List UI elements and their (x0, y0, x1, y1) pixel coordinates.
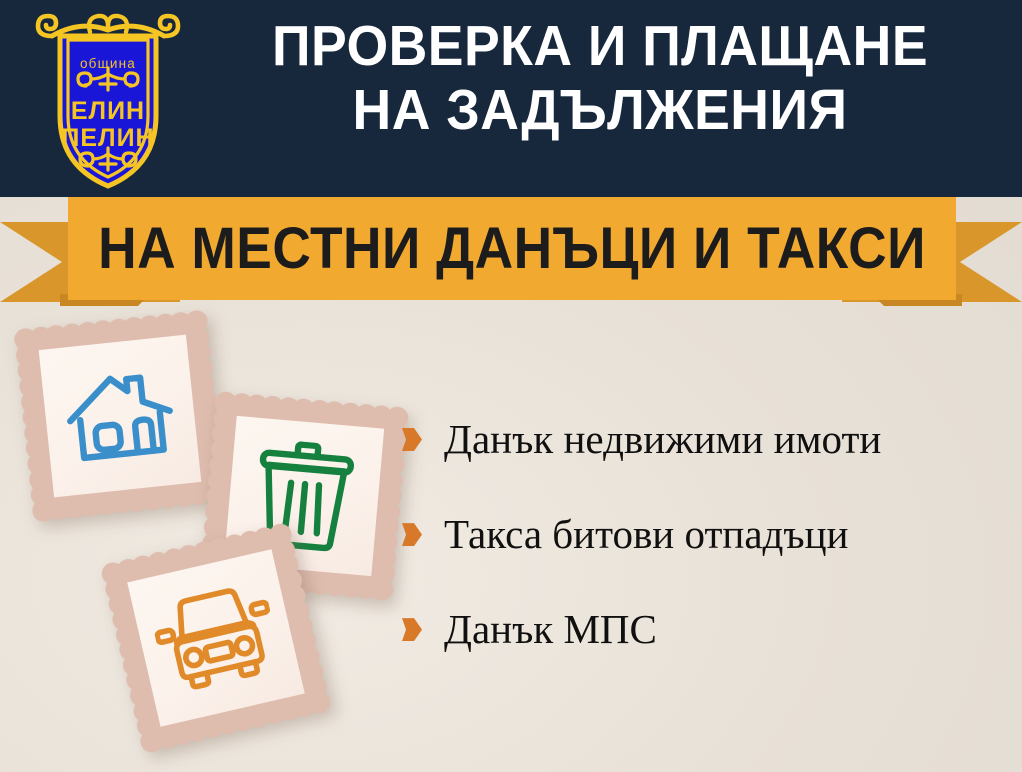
house-icon-wrap (39, 335, 202, 498)
subtitle-ribbon: НА МЕСТНИ ДАНЪЦИ И ТАКСИ (0, 196, 1022, 304)
stamp-card-house (12, 308, 227, 523)
svg-text:ЕЛИН: ЕЛИН (71, 97, 145, 125)
ribbon-label: НА МЕСТНИ ДАНЪЦИ И ТАКСИ (104, 196, 921, 300)
coat-of-arms-icon: община ЕЛИН ПЕЛИН (28, 6, 188, 192)
title-line-1: ПРОВЕРКА И ПЛАЩАНЕ (215, 14, 986, 78)
poster-canvas: община ЕЛИН ПЕЛИН (0, 0, 1022, 772)
list-item-label: Данък недвижими имоти (444, 418, 881, 461)
list-item[interactable]: Данък недвижими имоти (402, 418, 1002, 461)
list-item[interactable]: Данък МПС (402, 608, 1002, 651)
poster-header: община ЕЛИН ПЕЛИН (0, 0, 1022, 197)
list-item-label: Такса битови отпадъци (444, 513, 848, 556)
bullet-arrow-icon (402, 523, 422, 546)
tax-types-list: Данък недвижими имоти Такса битови отпад… (402, 418, 1002, 703)
bullet-arrow-icon (402, 618, 422, 641)
poster-title: ПРОВЕРКА И ПЛАЩАНЕ НА ЗАДЪЛЖЕНИЯ (190, 14, 1010, 142)
list-item-label: Данък МПС (444, 608, 657, 651)
house-icon (59, 360, 181, 471)
car-front-icon (148, 578, 285, 698)
list-item[interactable]: Такса битови отпадъци (402, 513, 1002, 556)
municipality-logo: община ЕЛИН ПЕЛИН (28, 6, 188, 192)
bullet-arrow-icon (402, 428, 422, 451)
title-line-2: НА ЗАДЪЛЖЕНИЯ (215, 78, 986, 142)
